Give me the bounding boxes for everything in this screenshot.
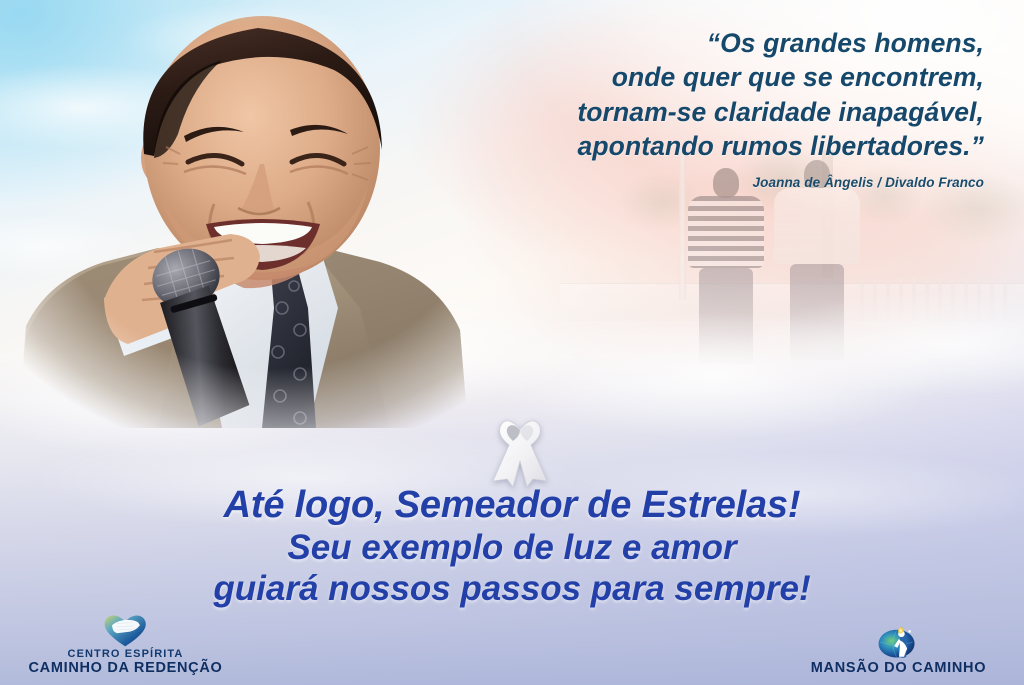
- quote-line-3: tornam-se claridade inapagável,: [424, 95, 984, 129]
- quote-block: “Os grandes homens, onde quer que se enc…: [424, 26, 984, 191]
- headline-line-1: Até logo, Semeador de Estrelas!: [0, 486, 1024, 524]
- logo-centro-espirita: CENTRO ESPÍRITA CAMINHO DA REDENÇÃO: [8, 612, 243, 677]
- quote-line-4: apontando rumos libertadores.”: [424, 129, 984, 163]
- quote-line-2: onde quer que se encontrem,: [424, 60, 984, 94]
- quote-attribution: Joanna de Ângelis / Divaldo Franco: [424, 174, 984, 192]
- logo-left-line-1: CENTRO ESPÍRITA: [8, 648, 243, 661]
- logo-mansao-do-caminho: MANSÃO DO CAMINHO: [781, 624, 1016, 677]
- headline-line-2: Seu exemplo de luz e amor: [0, 530, 1024, 565]
- logo-right-line-1: MANSÃO DO CAMINHO: [781, 660, 1016, 677]
- memorial-poster: “Os grandes homens, onde quer que se enc…: [0, 0, 1024, 685]
- logo-left-line-2: CAMINHO DA REDENÇÃO: [8, 660, 243, 677]
- headline-line-3: guiará nossos passos para sempre!: [0, 571, 1024, 606]
- white-mourning-ribbon-icon: [489, 409, 551, 487]
- headline-block: Até logo, Semeador de Estrelas! Seu exem…: [0, 486, 1024, 606]
- heart-hand-icon: [8, 612, 243, 648]
- quote-line-1: “Os grandes homens,: [424, 26, 984, 60]
- globe-figure-icon: [781, 624, 1016, 660]
